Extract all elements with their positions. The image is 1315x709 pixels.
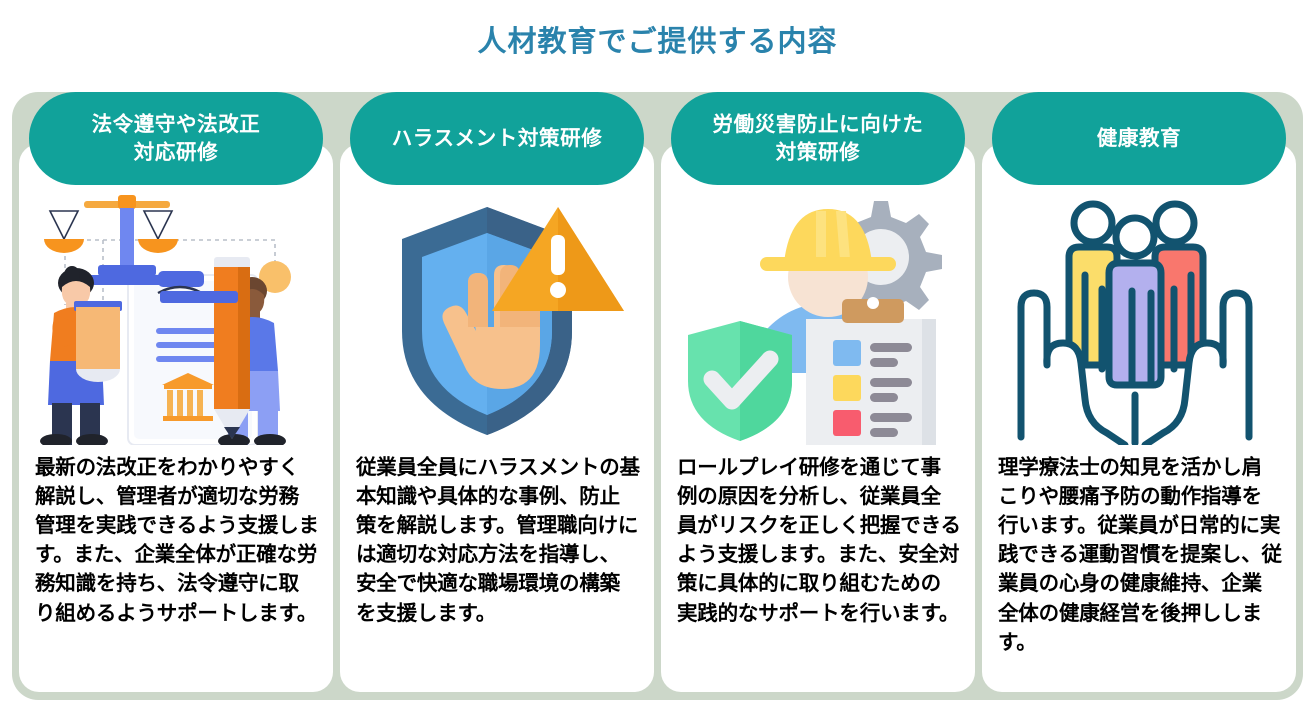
clipboard-icon xyxy=(806,297,936,445)
card-health-education[interactable]: 健康教育 xyxy=(982,144,1296,692)
shield-check-icon xyxy=(688,321,792,441)
card-workplace-safety[interactable]: 労働災害防止に向けた 対策研修 xyxy=(661,144,975,692)
card-header-legal-compliance: 法令遵守や法改正 対応研修 xyxy=(29,92,323,185)
card-body-legal-compliance: 最新の法改正をわかりやすく解説し、管理者が適切な労務管理を実践できるよう支援しま… xyxy=(19,449,333,638)
infographic-page: 人材教育でご提供する内容 法令遵守や法改正 対応研修 xyxy=(0,0,1315,709)
shield-stop-hand-warning-illustration xyxy=(340,191,654,449)
safety-worker-checklist-illustration xyxy=(661,191,975,449)
card-body-health-education: 理学療法士の知見を活かし肩こりや腰痛予防の動作指導を行います。従業員が日常的に実… xyxy=(982,449,1296,667)
hands-holding-people-illustration xyxy=(982,191,1296,449)
card-header-line2: 対策研修 xyxy=(776,140,860,164)
card-header-line1: ハラスメント対策研修 xyxy=(392,125,603,152)
card-header-workplace-safety: 労働災害防止に向けた 対策研修 xyxy=(671,92,965,185)
card-harassment-training[interactable]: ハラスメント対策研修 xyxy=(340,144,654,692)
legal-compliance-illustration xyxy=(19,191,333,449)
card-header-harassment-training: ハラスメント対策研修 xyxy=(350,92,644,185)
card-legal-compliance[interactable]: 法令遵守や法改正 対応研修 xyxy=(19,144,333,692)
card-header-line2: 対応研修 xyxy=(134,140,218,164)
card-header-line1: 法令遵守や法改正 xyxy=(92,112,261,136)
card-header-line1: 健康教育 xyxy=(1097,125,1181,152)
card-header-health-education: 健康教育 xyxy=(992,92,1286,185)
card-body-workplace-safety: ロールプレイ研修を通じて事例の原因を分析し、従業員全員がリスクを正しく把握できる… xyxy=(661,449,975,638)
page-title: 人材教育でご提供する内容 xyxy=(0,18,1315,60)
card-body-harassment-training: 従業員全員にハラスメントの基本知識や具体的な事例、防止策を解説します。管理職向け… xyxy=(340,449,654,638)
card-header-line1: 労働災害防止に向けた xyxy=(713,112,924,136)
cards-row: 法令遵守や法改正 対応研修 xyxy=(12,92,1303,700)
